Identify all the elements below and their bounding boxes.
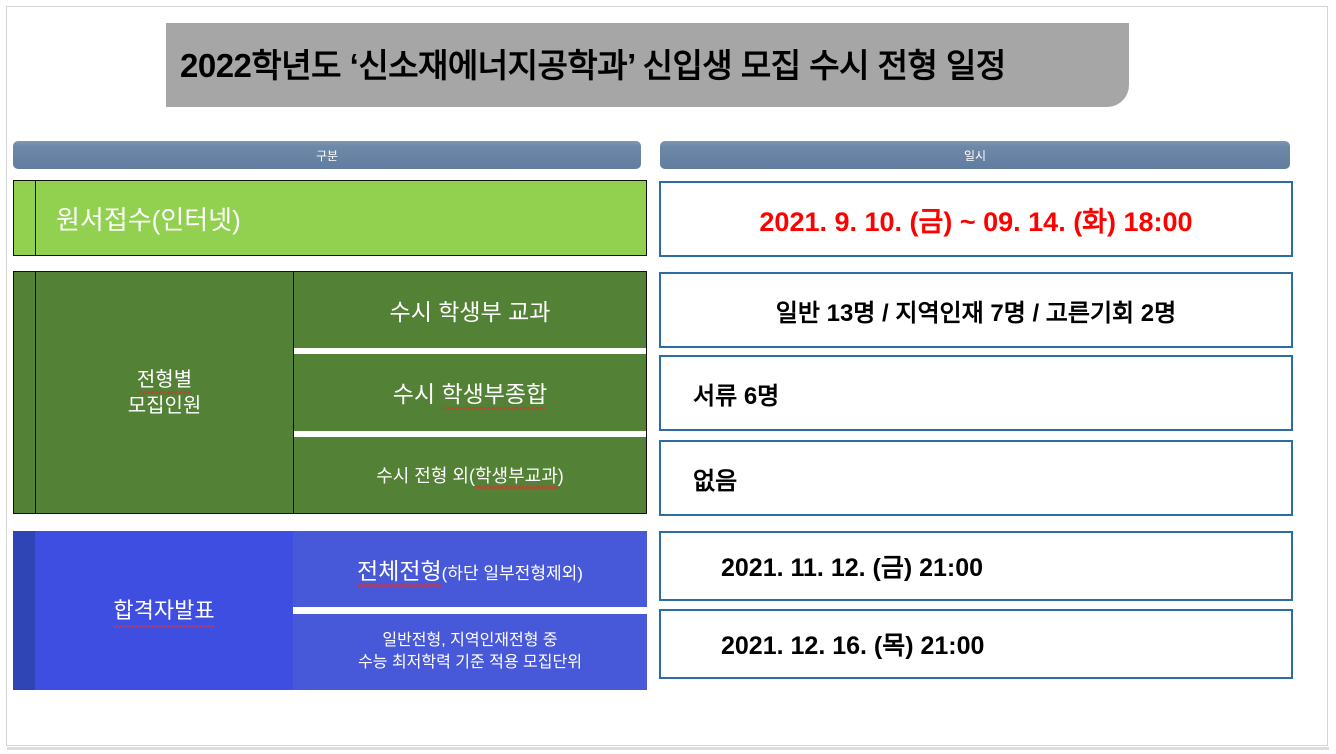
value-quota-subject-text: 일반 13명 / 지역인재 7명 / 고른기회 2명 <box>776 293 1176 328</box>
row-quota-label: 전형별 모집인원 <box>36 272 294 513</box>
subcell-non-susi: 수시 전형 외(학생부교과) <box>294 437 646 513</box>
value-quota-comprehensive-text: 서류 6명 <box>693 376 779 411</box>
subcell-non-susi-tail: ) <box>558 466 564 486</box>
row-application: 원서접수(인터넷) <box>13 180 647 256</box>
row-quota: 전형별 모집인원 수시 학생부 교과 수시 학생부종합 수시 전형 외(학생부교… <box>13 271 647 514</box>
column-header-category-label: 구분 <box>316 147 338 164</box>
value-quota-non-susi-text: 없음 <box>693 461 737 496</box>
subcell-minimum-standard-line1: 일반전형, 지역인재전형 중 <box>382 632 557 649</box>
value-application-period: 2021. 9. 10. (금) ~ 09. 14. (화) 18:00 <box>659 181 1293 257</box>
row-announcement-label-text: 합격자발표 <box>113 593 214 628</box>
page-title: 2022학년도 ‘신소재에너지공학과’ 신입생 모집 수시 전형 일정 <box>180 39 1006 87</box>
row-application-label: 원서접수(인터넷) <box>36 181 646 255</box>
subcell-susi-comprehensive: 수시 학생부종합 <box>294 354 646 430</box>
row-announcement: 합격자발표 전체전형(하단 일부전형제외) 일반전형, 지역인재전형 중 수능 … <box>13 531 647 690</box>
subcell-all-types-label: 전체전형(하단 일부전형제외) <box>357 552 583 586</box>
subcell-all-types: 전체전형(하단 일부전형제외) <box>293 531 647 607</box>
row-quota-label-line1: 전형별 <box>137 369 192 394</box>
row-quota-label-line2: 모집인원 <box>128 395 202 417</box>
title-banner: 2022학년도 ‘신소재에너지공학과’ 신입생 모집 수시 전형 일정 <box>166 23 1129 107</box>
value-announcement-all-text: 2021. 11. 12. (금) 21:00 <box>721 548 983 584</box>
row-announcement-label: 합격자발표 <box>35 531 293 690</box>
slide-shadow <box>7 747 1329 750</box>
subcell-susi-comprehensive-prefix: 수시 <box>393 381 442 407</box>
value-quota-non-susi: 없음 <box>659 440 1293 516</box>
subcell-minimum-standard-line2: 수능 최저학력 기준 적용 모집단위 <box>358 654 582 671</box>
column-header-datetime-label: 일시 <box>964 147 986 164</box>
subcell-non-susi-term: 학생부교과 <box>475 466 558 489</box>
row-quota-subcells: 수시 학생부 교과 수시 학생부종합 수시 전형 외(학생부교과) <box>294 272 646 513</box>
subcell-susi-comprehensive-label: 수시 학생부종합 <box>393 375 548 409</box>
value-quota-comprehensive: 서류 6명 <box>659 355 1293 431</box>
value-quota-subject: 일반 13명 / 지역인재 7명 / 고른기회 2명 <box>659 272 1293 348</box>
subcell-susi-subject-label: 수시 학생부 교과 <box>390 293 551 327</box>
subcell-non-susi-label: 수시 전형 외(학생부교과) <box>376 462 564 488</box>
row-quota-edge-strip <box>14 272 36 513</box>
subcell-susi-comprehensive-term: 학생부종합 <box>441 381 547 410</box>
value-application-period-text: 2021. 9. 10. (금) ~ 09. 14. (화) 18:00 <box>759 200 1192 239</box>
column-header-datetime: 일시 <box>660 141 1290 169</box>
subcell-non-susi-prefix: 수시 전형 외( <box>376 466 475 486</box>
subcell-all-types-note: (하단 일부전형제외) <box>442 564 583 583</box>
subcell-susi-subject: 수시 학생부 교과 <box>294 272 646 348</box>
row-application-edge-strip <box>14 181 36 255</box>
value-announcement-minimum: 2021. 12. 16. (목) 21:00 <box>659 609 1293 679</box>
column-header-category: 구분 <box>13 141 641 169</box>
row-announcement-subcells: 전체전형(하단 일부전형제외) 일반전형, 지역인재전형 중 수능 최저학력 기… <box>293 531 647 690</box>
row-announcement-edge-strip <box>13 531 35 690</box>
subcell-minimum-standard-label: 일반전형, 지역인재전형 중 수능 최저학력 기준 적용 모집단위 <box>358 630 582 673</box>
value-announcement-all: 2021. 11. 12. (금) 21:00 <box>659 531 1293 601</box>
row-quota-label-stack: 전형별 모집인원 <box>128 367 202 419</box>
value-quota-subject-inner: 일반 13명 / 지역인재 7명 / 고른기회 2명 <box>776 300 1176 327</box>
value-announcement-minimum-text: 2021. 12. 16. (목) 21:00 <box>721 626 984 662</box>
subcell-all-types-term: 전체전형 <box>357 558 442 587</box>
subcell-minimum-standard: 일반전형, 지역인재전형 중 수능 최저학력 기준 적용 모집단위 <box>293 614 647 690</box>
